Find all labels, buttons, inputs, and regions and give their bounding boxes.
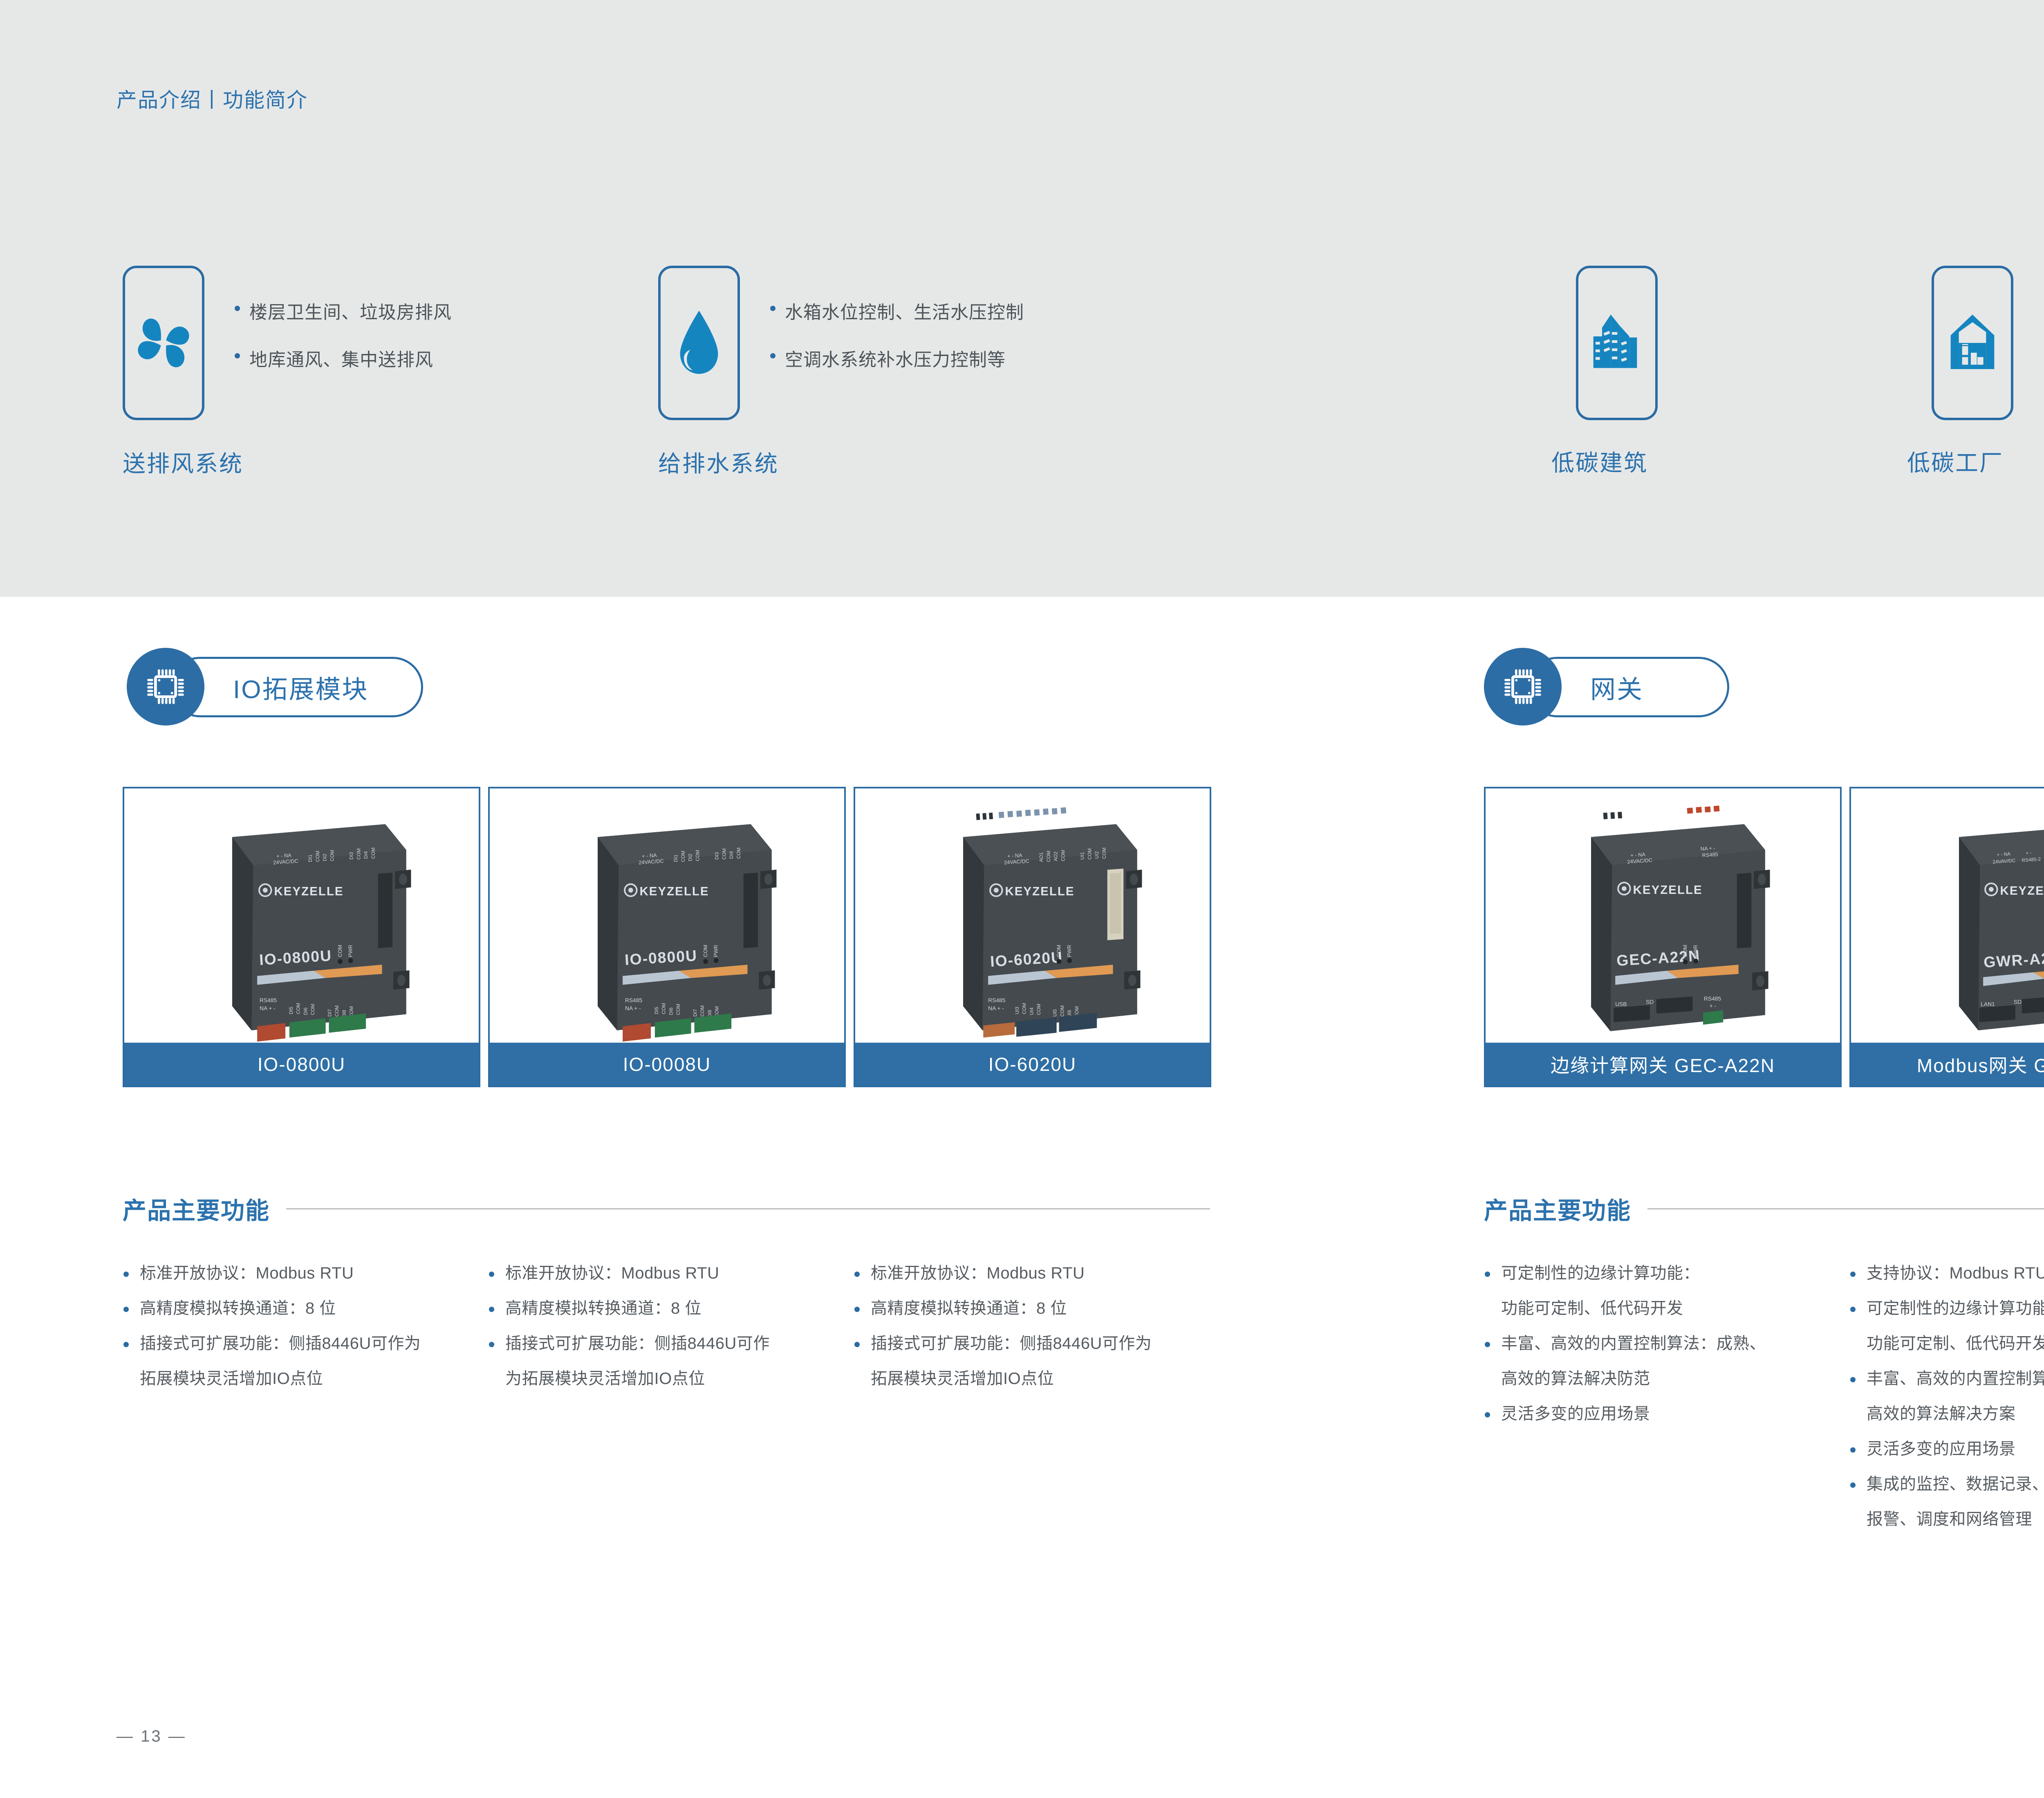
feature-list-gw-col1: 可定制性的边缘计算功能： 功能可定制、低代码开发 丰富、高效的内置控制算法：成熟…: [1484, 1265, 1831, 1441]
feature-list-col1: 标准开放协议：Modbus RTU 高精度模拟转换通道：8 位 插接式可扩展功能…: [123, 1265, 470, 1406]
svg-text:SD: SD: [2014, 999, 2022, 1005]
product-photo: KEYZELLE GWR-A25N + - NA 2AVAV/DC + - RS…: [1851, 788, 2044, 1043]
spread-page: 产品介绍丨功能简介 产品介绍丨功能简介 楼层卫生间、垃圾房排风 地库通风、集中送…: [0, 0, 2044, 1798]
gateway-device-image: KEYZELLE GEC-A22N + - NA 24VAC/DC NA + -…: [1486, 788, 1840, 1043]
svg-text:+ -: + -: [1710, 1003, 1716, 1009]
svg-text:COM: COM: [1046, 851, 1051, 862]
svg-text:COM: COM: [736, 848, 742, 859]
product-card[interactable]: KEYZELLE GWR-A25N + - NA 2AVAV/DC + - RS…: [1849, 787, 2044, 1087]
svg-text:UI2: UI2: [1094, 851, 1100, 859]
svg-text:LAN1: LAN1: [1981, 1001, 1995, 1008]
scenario-bullet: 楼层卫生间、垃圾房排风: [233, 298, 452, 324]
section-badge-pill: IO拓展模块: [170, 657, 423, 717]
svg-text:DI7: DI7: [692, 1009, 698, 1017]
feature-item: 高精度模拟转换通道：8 位: [488, 1300, 836, 1317]
svg-text:DI4: DI4: [363, 851, 369, 859]
svg-text:DI7: DI7: [327, 1009, 332, 1017]
icon-block-low-carbon-building: 低碳建筑: [1576, 266, 1658, 478]
feature-item: 插接式可扩展功能：侧插8446U可作为 拓展模块灵活增加IO点位: [123, 1335, 470, 1387]
svg-text:COM: COM: [370, 848, 376, 859]
feature-line: 高精度模拟转换通道：8 位: [140, 1300, 470, 1317]
svg-text:RS485: RS485: [260, 997, 277, 1003]
io-module-device-image: KEYZELLE IO-0800U + - NA 24VAC/DC DI1 CO…: [124, 788, 479, 1043]
product-label: IO-6020U: [855, 1043, 1210, 1086]
feature-line: 为拓展模块灵活增加IO点位: [505, 1370, 836, 1387]
scenario-icon-frame: [658, 266, 740, 420]
svg-text:KEYZELLE: KEYZELLE: [274, 885, 344, 898]
feature-item: 支持协议：Modbus RTU: [1849, 1265, 2044, 1281]
svg-text:NA + -: NA + -: [1700, 845, 1715, 852]
scenario-bullet: 空调水系统补水压力控制等: [769, 345, 1024, 371]
svg-text:RS485: RS485: [625, 997, 642, 1003]
svg-text:KEYZELLE: KEYZELLE: [640, 885, 709, 898]
feature-line: 标准开放协议：Modbus RTU: [871, 1265, 1209, 1281]
svg-text:DI3: DI3: [349, 852, 354, 860]
feature-item: 灵活多变的应用场景: [1484, 1406, 1831, 1422]
svg-text:PWR: PWR: [347, 945, 354, 957]
feature-line: 插接式可扩展功能：侧插8446U可作为: [140, 1335, 470, 1352]
svg-text:COM: COM: [695, 850, 700, 861]
svg-text:COM: COM: [1101, 848, 1107, 859]
chip-icon-circle: [127, 648, 204, 725]
heading-rule: [286, 1208, 1210, 1209]
product-card[interactable]: KEYZELLE IO-0800U + - NA 24VAC/DC DI1 CO…: [488, 787, 846, 1087]
product-card[interactable]: KEYZELLE IO-6020U + - NA 24VAC/DC AO1 CO…: [854, 787, 1211, 1087]
feature-line: 高效的算法解决防范: [1501, 1370, 1831, 1387]
svg-text:DI6: DI6: [668, 1008, 674, 1015]
feature-line: 灵活多变的应用场景: [1501, 1406, 1831, 1422]
svg-text:NA + -: NA + -: [260, 1005, 276, 1012]
feature-item: 灵活多变的应用场景: [1849, 1441, 2044, 1457]
svg-text:UI5: UI5: [1052, 1009, 1058, 1017]
svg-text:COM: COM: [337, 945, 343, 957]
feature-line: 灵活多变的应用场景: [1867, 1441, 2044, 1457]
svg-text:COM: COM: [1087, 848, 1092, 860]
svg-text:COM: COM: [680, 851, 686, 862]
product-label: Modbus网关 GWR-A25N: [1851, 1043, 2044, 1086]
svg-text:COM: COM: [334, 1005, 340, 1017]
svg-text:+ -: + -: [2026, 850, 2032, 856]
svg-text:DI1: DI1: [673, 855, 679, 862]
feature-item: 丰富、高效的内置控制算法：成熟、高效的算法解决方案: [1849, 1370, 2044, 1422]
svg-text:DI1: DI1: [307, 855, 313, 862]
svg-text:COM: COM: [315, 851, 320, 862]
feature-line: 高效的算法解决方案: [1867, 1406, 2044, 1422]
icon-block-caption: 低碳工厂: [1907, 445, 1989, 478]
feature-line: 拓展模块灵活增加IO点位: [871, 1370, 1209, 1387]
feature-line: 丰富、高效的内置控制算法：成熟、: [1867, 1370, 2044, 1387]
feature-item: 插接式可扩展功能：侧插8446U可作 为拓展模块灵活增加IO点位: [488, 1335, 836, 1387]
feature-line: 插接式可扩展功能：侧插8446U可作: [505, 1335, 836, 1352]
svg-text:UI3: UI3: [1014, 1007, 1020, 1014]
feature-item: 高精度模拟转换通道：8 位: [123, 1300, 470, 1317]
scenario-icon-frame: [123, 266, 204, 420]
feature-item: 可定制性的边缘计算功能：功能可定制、低代码开发: [1849, 1300, 2044, 1352]
feature-item: 标准开放协议：Modbus RTU: [854, 1265, 1209, 1281]
gateway-device-image: KEYZELLE GWR-A25N + - NA 2AVAV/DC + - RS…: [1851, 788, 2044, 1043]
svg-text:KEYZELLE: KEYZELLE: [1633, 883, 1703, 897]
svg-text:UI4: UI4: [1029, 1008, 1034, 1015]
io-module-device-image: KEYZELLE IO-0800U + - NA 24VAC/DC DI1 CO…: [490, 788, 844, 1043]
feature-line: 插接式可扩展功能：侧插8446U可作为: [871, 1335, 1209, 1352]
feature-line: 集成的监控、数据记录、能耗计量、: [1867, 1476, 2044, 1492]
feature-line: 高精度模拟转换通道：8 位: [871, 1300, 1209, 1317]
feature-line: 丰富、高效的内置控制算法：成熟、: [1501, 1335, 1831, 1352]
product-photo: KEYZELLE IO-0800U + - NA 24VAC/DC DI1 CO…: [124, 788, 479, 1043]
svg-text:COM: COM: [1056, 945, 1062, 957]
feature-list-col2: 标准开放协议：Modbus RTU 高精度模拟转换通道：8 位 插接式可扩展功能…: [488, 1265, 836, 1406]
fan-icon: [131, 310, 196, 376]
svg-text:DI2: DI2: [322, 854, 328, 861]
svg-text:COM: COM: [661, 1003, 667, 1014]
svg-text:COM: COM: [699, 1005, 705, 1017]
svg-text:AO2: AO2: [1053, 851, 1059, 861]
svg-text:COM: COM: [296, 1003, 301, 1014]
svg-text:PWR: PWR: [1066, 945, 1072, 957]
svg-text:KEYZELLE: KEYZELLE: [2000, 884, 2044, 898]
feature-line: 高精度模拟转换通道：8 位: [505, 1300, 836, 1317]
svg-text:KEYZELLE: KEYZELLE: [1005, 885, 1075, 898]
page-number-left: — 13 —: [117, 1727, 186, 1746]
product-card[interactable]: KEYZELLE IO-0800U + - NA 24VAC/DC DI1 CO…: [123, 787, 480, 1087]
svg-text:SD: SD: [1646, 999, 1654, 1005]
scenario-bullet-list: 水箱水位控制、生活水压控制 空调水系统补水压力控制等: [769, 298, 1024, 392]
svg-text:PWR: PWR: [1692, 945, 1699, 957]
svg-text:COM: COM: [356, 848, 361, 860]
svg-text:COM: COM: [702, 945, 708, 957]
chip-icon: [143, 664, 188, 710]
feature-line: 报警、调度和网络管理: [1867, 1511, 2044, 1527]
product-label: IO-0008U: [490, 1043, 844, 1086]
features-heading-text: 产品主要功能: [123, 1191, 270, 1226]
feature-list-col3: 标准开放协议：Modbus RTU 高精度模拟转换通道：8 位 插接式可扩展功能…: [854, 1265, 1209, 1406]
svg-text:COM: COM: [310, 1004, 316, 1015]
svg-text:COM: COM: [1022, 1003, 1027, 1014]
scenario-title: 送排风系统: [123, 446, 294, 479]
svg-text:NA + -: NA + -: [625, 1005, 641, 1012]
product-photo: KEYZELLE GEC-A22N + - NA 24VAC/DC NA + -…: [1486, 788, 1840, 1043]
feature-line: 支持协议：Modbus RTU: [1867, 1265, 2044, 1281]
product-photo: KEYZELLE IO-0800U + - NA 24VAC/DC DI1 CO…: [490, 788, 844, 1043]
svg-text:DI4: DI4: [728, 851, 734, 859]
svg-text:COM: COM: [721, 848, 727, 860]
svg-text:DI5: DI5: [654, 1007, 659, 1014]
svg-text:COM: COM: [1682, 945, 1688, 957]
page-header-left: 产品介绍丨功能简介: [117, 84, 308, 113]
scenario-bullet: 水箱水位控制、生活水压控制: [769, 298, 1024, 324]
svg-text:+ - NA: + - NA: [1997, 851, 2011, 858]
features-heading-right: 产品主要功能: [1484, 1191, 2044, 1226]
feature-line: 标准开放协议：Modbus RTU: [140, 1265, 470, 1281]
features-heading-left: 产品主要功能: [123, 1191, 1210, 1226]
svg-text:DI5: DI5: [288, 1007, 294, 1014]
feature-item: 可定制性的边缘计算功能： 功能可定制、低代码开发: [1484, 1265, 1831, 1317]
svg-text:AO1: AO1: [1038, 852, 1044, 862]
feature-list-gw-col2: 支持协议：Modbus RTU 可定制性的边缘计算功能：功能可定制、低代码开发 …: [1849, 1265, 2044, 1546]
svg-text:DI6: DI6: [303, 1008, 308, 1015]
svg-text:DI2: DI2: [688, 854, 693, 861]
scenario-title: 给排水系统: [658, 446, 830, 479]
scenario-bullet: 地库通风、集中送排风: [233, 345, 452, 371]
product-photo: KEYZELLE IO-6020U + - NA 24VAC/DC AO1 CO…: [855, 788, 1210, 1043]
icon-block-low-carbon-factory: 低碳工厂: [1932, 266, 2013, 478]
feature-item: 集成的监控、数据记录、能耗计量、报警、调度和网络管理: [1849, 1476, 2044, 1527]
feature-line: 可定制性的边缘计算功能：: [1501, 1265, 1831, 1281]
svg-text:COM: COM: [675, 1004, 681, 1015]
product-card[interactable]: KEYZELLE GEC-A22N + - NA 24VAC/DC NA + -…: [1484, 787, 1842, 1087]
section-badge-gateway: 网关: [1484, 648, 1729, 725]
svg-text:UI1: UI1: [1080, 852, 1085, 860]
svg-text:COM: COM: [1059, 1005, 1065, 1017]
section-badge-label: IO拓展模块: [233, 669, 368, 705]
svg-text:DI3: DI3: [714, 852, 720, 860]
water-drop-icon: [666, 308, 732, 378]
feature-line: 功能可定制、低代码开发: [1501, 1300, 1831, 1317]
icon-block-caption: 低碳建筑: [1551, 445, 1633, 478]
icon-frame: [1576, 266, 1658, 420]
section-badge-label: 网关: [1590, 669, 1643, 705]
features-heading-text: 产品主要功能: [1484, 1191, 1631, 1226]
feature-line: 可定制性的边缘计算功能：: [1867, 1300, 2044, 1317]
svg-text:PWR: PWR: [713, 945, 719, 957]
feature-line: 标准开放协议：Modbus RTU: [505, 1265, 836, 1281]
feature-item: 高精度模拟转换通道：8 位: [854, 1300, 1209, 1317]
chip-icon: [1500, 664, 1546, 710]
section-badge-io-modules: IO拓展模块: [127, 648, 429, 725]
svg-text:COM: COM: [329, 850, 335, 861]
feature-line: 功能可定制、低代码开发: [1867, 1335, 2044, 1352]
svg-text:COM: COM: [1060, 850, 1066, 861]
scenario-bullet-list: 楼层卫生间、垃圾房排风 地库通风、集中送排风: [233, 298, 452, 392]
io-module-device-image: KEYZELLE IO-6020U + - NA 24VAC/DC AO1 CO…: [855, 788, 1210, 1043]
factory-icon: [1942, 310, 2003, 376]
product-label: IO-0800U: [124, 1043, 479, 1086]
svg-text:NA + -: NA + -: [988, 1005, 1004, 1012]
svg-text:COM: COM: [1036, 1004, 1042, 1015]
svg-text:RS485: RS485: [1704, 996, 1721, 1002]
feature-item: 插接式可扩展功能：侧插8446U可作为 拓展模块灵活增加IO点位: [854, 1335, 1209, 1387]
product-label: 边缘计算网关 GEC-A22N: [1486, 1043, 1840, 1086]
feature-item: 丰富、高效的内置控制算法：成熟、高效的算法解决防范: [1484, 1335, 1831, 1387]
svg-text:RS485: RS485: [1702, 851, 1718, 858]
feature-line: 拓展模块灵活增加IO点位: [140, 1370, 470, 1387]
svg-text:RS485: RS485: [988, 997, 1005, 1003]
heading-rule: [1647, 1208, 2044, 1209]
feature-item: 标准开放协议：Modbus RTU: [488, 1265, 836, 1281]
feature-item: 标准开放协议：Modbus RTU: [123, 1265, 470, 1281]
chip-icon-circle: [1484, 648, 1562, 725]
office-building-icon: [1586, 310, 1647, 376]
svg-text:USB: USB: [1615, 1001, 1627, 1008]
icon-frame: [1932, 266, 2013, 420]
